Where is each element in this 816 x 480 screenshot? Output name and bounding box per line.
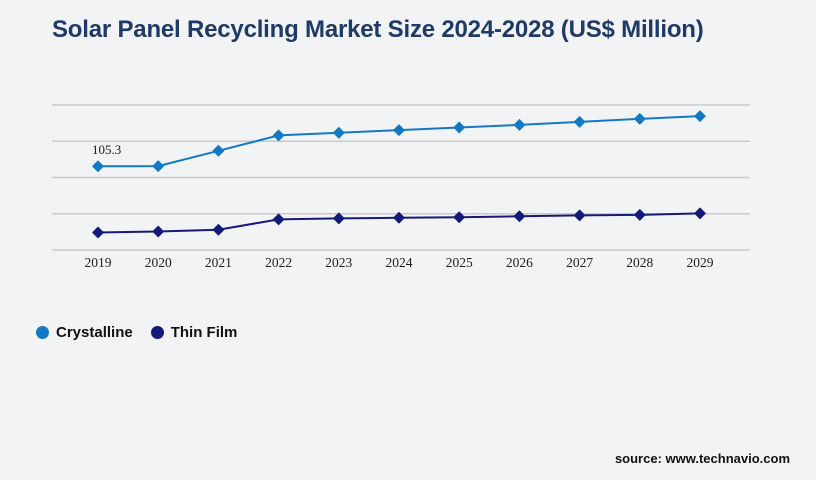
data-point-marker[interactable] <box>273 213 285 225</box>
data-point-marker[interactable] <box>273 129 285 141</box>
x-axis-tick-label: 2026 <box>506 255 533 271</box>
data-point-marker[interactable] <box>694 110 706 122</box>
series-thin-film <box>92 207 706 238</box>
chart-legend: CrystallineThin Film <box>36 324 237 341</box>
data-point-marker[interactable] <box>513 210 525 222</box>
data-point-marker[interactable] <box>574 209 586 221</box>
data-point-marker[interactable] <box>92 227 104 239</box>
legend-swatch-icon <box>36 326 49 339</box>
legend-label: Thin Film <box>171 324 238 341</box>
data-point-marker[interactable] <box>574 116 586 128</box>
data-point-marker[interactable] <box>634 209 646 221</box>
x-axis-tick-label: 2024 <box>386 255 413 271</box>
data-point-value-label: 105.3 <box>92 142 121 158</box>
data-point-marker[interactable] <box>212 224 224 236</box>
x-axis-tick-label: 2021 <box>205 255 232 271</box>
data-point-marker[interactable] <box>92 160 104 172</box>
legend-item-thin-film[interactable]: Thin Film <box>151 324 238 341</box>
x-axis-tick-label: 2022 <box>265 255 292 271</box>
data-point-marker[interactable] <box>333 127 345 139</box>
data-point-marker[interactable] <box>152 226 164 238</box>
legend-label: Crystalline <box>56 324 133 341</box>
x-axis-tick-label: 2028 <box>626 255 653 271</box>
x-axis-tick-label: 2025 <box>446 255 473 271</box>
legend-item-crystalline[interactable]: Crystalline <box>36 324 133 341</box>
data-point-marker[interactable] <box>513 119 525 131</box>
data-point-marker[interactable] <box>453 211 465 223</box>
x-axis-tick-label: 2019 <box>85 255 112 271</box>
data-point-marker[interactable] <box>393 124 405 136</box>
data-point-marker[interactable] <box>212 145 224 157</box>
x-axis-tick-label: 2020 <box>145 255 172 271</box>
x-axis-tick-label: 2029 <box>687 255 714 271</box>
source-note: source: www.technavio.com <box>615 451 790 466</box>
data-point-marker[interactable] <box>453 121 465 133</box>
line-chart-plot <box>0 0 816 480</box>
x-axis-tick-label: 2027 <box>566 255 593 271</box>
x-axis: 2019202020212022202320242025202620272028… <box>0 255 816 275</box>
data-point-marker[interactable] <box>152 160 164 172</box>
x-axis-tick-label: 2023 <box>325 255 352 271</box>
legend-swatch-icon <box>151 326 164 339</box>
data-point-marker[interactable] <box>694 207 706 219</box>
data-point-marker[interactable] <box>634 113 646 125</box>
chart-container: Solar Panel Recycling Market Size 2024-2… <box>0 0 816 480</box>
